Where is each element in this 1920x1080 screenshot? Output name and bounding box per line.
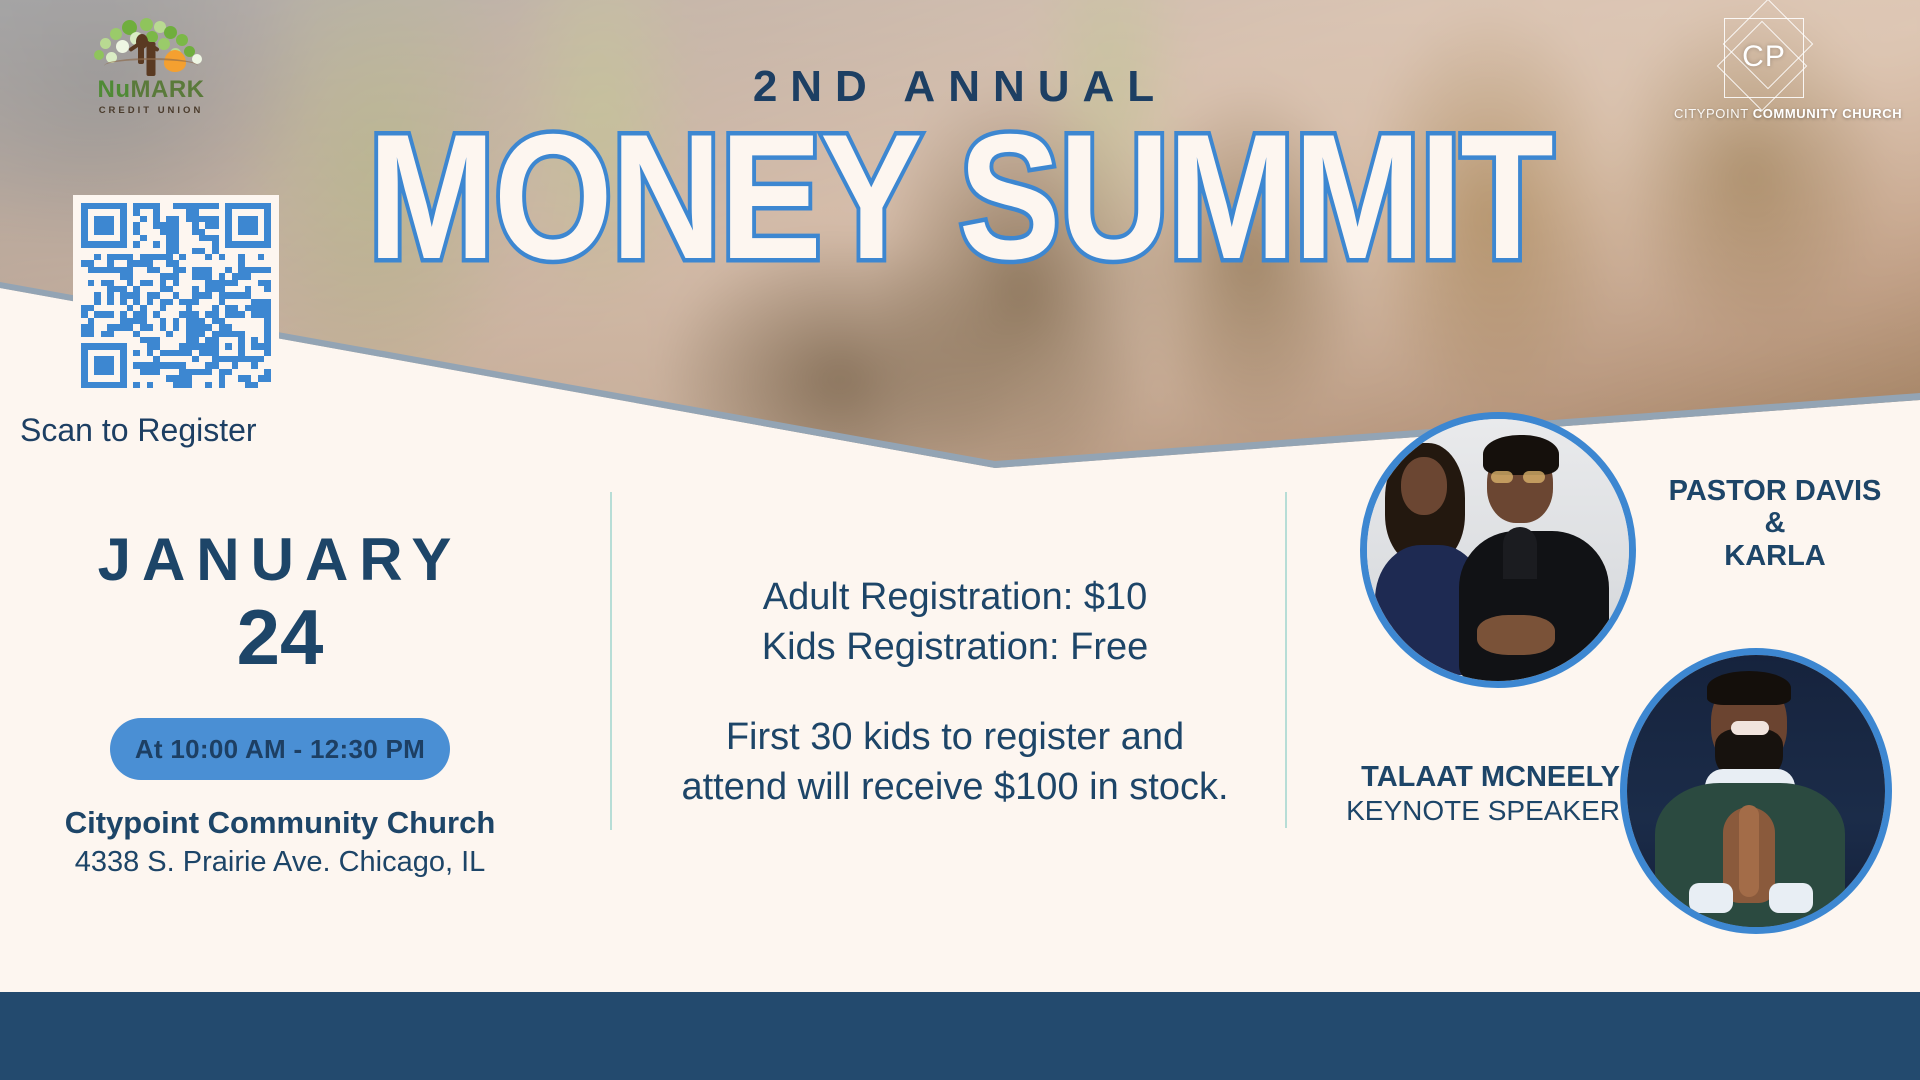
speaker-2-role-text: KEYNOTE SPEAKER [1300,794,1620,827]
scan-to-register-label: Scan to Register [20,412,320,449]
adult-registration-line: Adult Registration: $10 [620,572,1290,622]
speaker-2-name: TALAAT MCNEELY KEYNOTE SPEAKER [1300,760,1620,827]
registration-details: Adult Registration: $10 Kids Registratio… [620,572,1290,813]
pastor-davis-and-karla-photo [1360,412,1636,688]
qr-code-icon[interactable] [81,203,271,388]
event-flyer: NuMARK CREDIT UNION CP CITYPOINT COMMUNI… [0,0,1920,1080]
speaker-1-name-line3: KARLA [1640,540,1910,572]
event-month: JANUARY [40,530,520,590]
qr-code-card[interactable] [73,195,279,396]
stock-promo-line2: attend will receive $100 in stock. [620,762,1290,812]
speaker-2-name-text: TALAAT MCNEELY [1300,760,1620,794]
divider-left [610,492,612,830]
event-day: 24 [40,598,520,676]
kids-registration-line: Kids Registration: Free [620,622,1290,672]
event-venue: Citypoint Community Church [40,805,520,841]
talaat-mcneely-photo [1620,648,1892,934]
stock-promo-line1: First 30 kids to register and [620,712,1290,762]
speaker-1-name-line2: & [1640,507,1910,539]
speaker-1-name-line1: PASTOR DAVIS [1640,475,1910,507]
event-time-badge: At 10:00 AM - 12:30 PM [110,718,450,780]
page-title: MONEY SUMMIT [134,108,1785,286]
event-address: 4338 S. Prairie Ave. Chicago, IL [40,846,520,879]
footer-bar [0,992,1920,1080]
speaker-1-name: PASTOR DAVIS & KARLA [1640,475,1910,572]
